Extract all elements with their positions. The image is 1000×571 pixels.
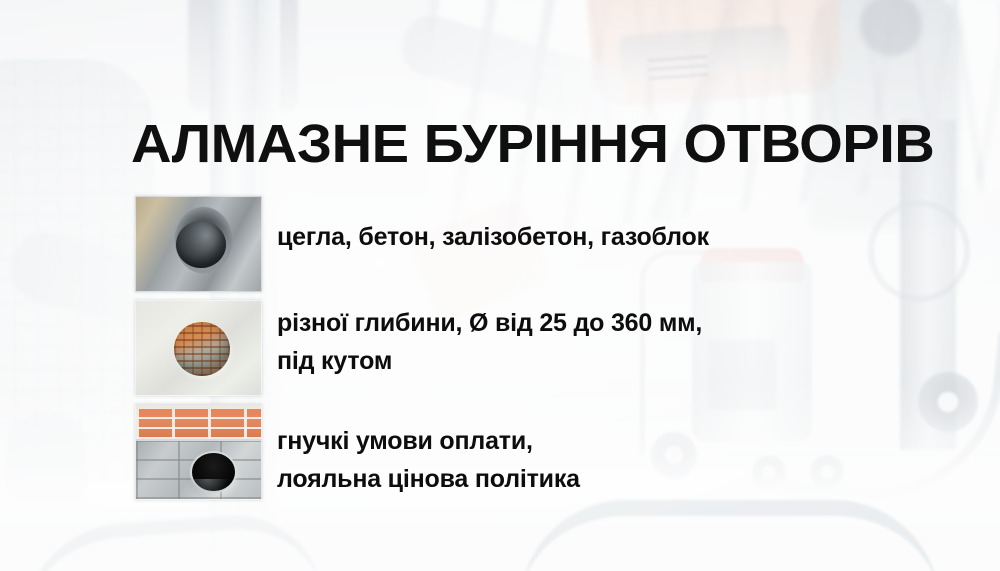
- feature-line: лояльна цінова політика: [277, 460, 580, 498]
- banner-content: АЛМАЗНЕ БУРІННЯ ОТВОРІВ цегла, бетон, за…: [0, 0, 1000, 571]
- feature-text: різної глибини, Ø від 25 до 360 мм, під …: [277, 300, 702, 380]
- page-title: АЛМАЗНЕ БУРІННЯ ОТВОРІВ: [131, 115, 934, 173]
- list-item: різної глибини, Ø від 25 до 360 мм, під …: [135, 300, 702, 396]
- feature-text: цегла, бетон, залізобетон, газоблок: [277, 196, 709, 256]
- list-item: гнучкі умови оплати, лояльна цінова полі…: [135, 404, 580, 500]
- list-item: цегла, бетон, залізобетон, газоблок: [135, 196, 709, 292]
- drilled-hole-in-stone-thumbnail: [135, 196, 262, 292]
- drilled-hole-in-plaster-brick-thumbnail: [135, 300, 262, 396]
- feature-text: гнучкі умови оплати, лояльна цінова полі…: [277, 404, 580, 498]
- diamond-drilling-promo-banner: АЛМАЗНЕ БУРІННЯ ОТВОРІВ цегла, бетон, за…: [0, 0, 1000, 571]
- feature-line: гнучкі умови оплати,: [277, 422, 580, 460]
- brick-course: [136, 409, 261, 439]
- feature-line: під кутом: [277, 342, 702, 380]
- drilled-hole-in-block-wall-thumbnail: [135, 404, 262, 500]
- drill-water-stain: [186, 479, 229, 499]
- feature-line: різної глибини, Ø від 25 до 360 мм,: [277, 304, 702, 342]
- feature-line: цегла, бетон, залізобетон, газоблок: [277, 218, 709, 256]
